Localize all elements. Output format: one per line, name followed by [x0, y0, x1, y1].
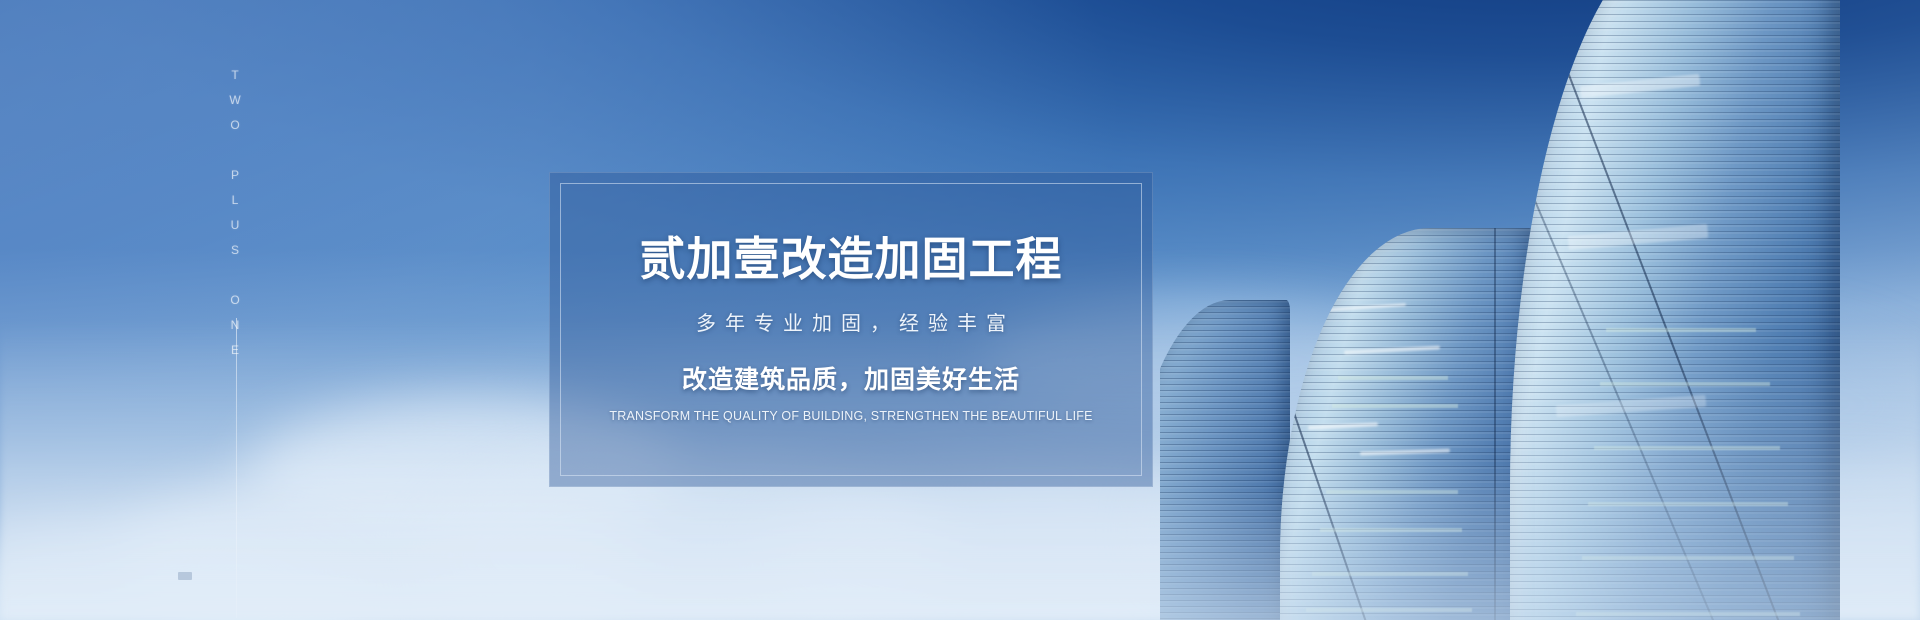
- vertical-divider-line: [236, 318, 237, 618]
- hero-slogan: 改造建筑品质，加固美好生活: [682, 360, 1020, 396]
- tower-right: [1510, 0, 1840, 620]
- skyscraper-group: [1160, 0, 1920, 620]
- hero-english-tagline: TRANSFORM THE QUALITY OF BUILDING, STREN…: [609, 409, 1092, 423]
- banner-hero: TWO PLUS ONE 贰加壹改造加固工程 多年专业加固，经验丰富 改造建筑品…: [0, 0, 1920, 620]
- hero-title: 贰加壹改造加固工程: [640, 234, 1063, 286]
- hero-subtitle: 多年专业加固，经验丰富: [687, 307, 1015, 336]
- tower-background: [1160, 300, 1290, 620]
- hero-panel-content: 贰加壹改造加固工程 多年专业加固，经验丰富 改造建筑品质，加固美好生活 TRAN…: [550, 173, 1152, 486]
- tower-left: [1280, 228, 1535, 620]
- corner-mark-glyph: [178, 572, 192, 580]
- tower-haze-veil: [1160, 300, 1290, 620]
- tower-haze-veil: [1280, 228, 1535, 620]
- tower-haze-veil: [1510, 0, 1840, 620]
- vertical-brand-text: TWO PLUS ONE: [228, 68, 242, 368]
- hero-text-panel: 贰加壹改造加固工程 多年专业加固，经验丰富 改造建筑品质，加固美好生活 TRAN…: [549, 172, 1153, 487]
